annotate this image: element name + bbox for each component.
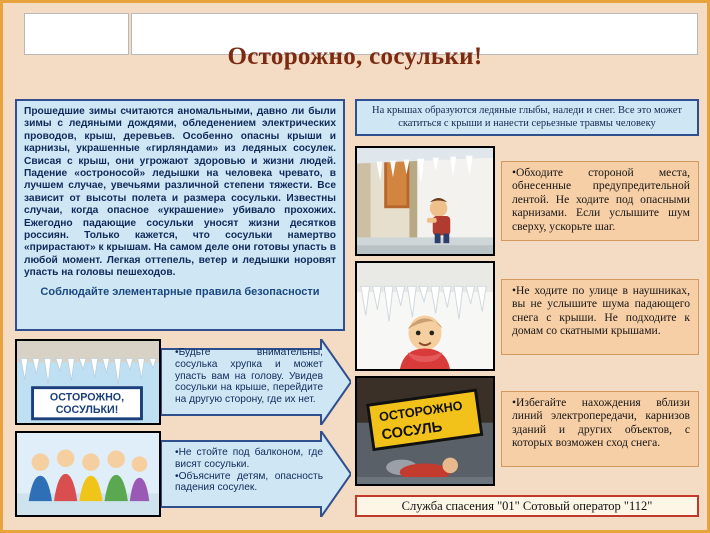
page-title: Осторожно, сосульки! [11,43,699,71]
header-band: Осторожно, сосульки! [11,9,699,87]
svg-text:ОСТОРОЖНО,: ОСТОРОЖНО, [50,391,124,403]
photo-street-sign: ОСТОРОЖНО, СОСУЛЬКИ! [15,339,161,425]
photo-man-under-cornice [355,146,495,256]
main-text-block: Прошедшие зимы считаются аномальными, да… [15,99,345,331]
safety-rules-line: Соблюдайте элементарные правила безопасн… [24,286,336,298]
tip-box-1: •Обходите стороной места, обнесенные пре… [501,161,699,241]
illustration-woman-icicles [357,263,493,370]
illustration-warning-sign: ОСТОРОЖНО СОСУЛЬ [357,378,493,485]
illustration-street-sign: ОСТОРОЖНО, СОСУЛЬКИ! [17,341,159,425]
arrow-callout-1: •Будьте внимательны, сосулька хрупка и м… [161,339,351,425]
illustration-children [17,433,159,517]
roof-ice-note-text: На крышах образуются ледяные глыбы, нале… [363,105,691,130]
roof-ice-note: На крышах образуются ледяные глыбы, нале… [355,99,699,136]
photo-warning-sign-danger: ОСТОРОЖНО СОСУЛЬ [355,376,495,486]
svg-text:СОСУЛЬКИ!: СОСУЛЬКИ! [56,404,119,416]
photo-children-group [15,431,161,517]
arrow-text-2: •Не стойте под балконом, где висят сосул… [175,447,323,494]
tip-box-3: •Избегайте нахождения вблизи линий элект… [501,391,699,467]
tip-box-2: •Не ходите по улице в наушниках, вы не у… [501,279,699,355]
arrow-text-1: •Будьте внимательны, сосулька хрупка и м… [175,347,323,406]
poster-page: Осторожно, сосульки! Прошедшие зимы счит… [0,0,710,533]
tip-text-2: •Не ходите по улице в наушниках, вы не у… [512,284,690,337]
photo-woman-under-icicles [355,261,495,371]
tip-text-1: •Обходите стороной места, обнесенные пре… [512,166,690,233]
emergency-service-text: Служба спасения "01" Сотовый оператор "1… [402,499,653,514]
tip-text-3: •Избегайте нахождения вблизи линий элект… [512,396,690,449]
emergency-service-bar: Служба спасения "01" Сотовый оператор "1… [355,495,699,517]
main-text-body: Прошедшие зимы считаются аномальными, да… [24,106,336,278]
arrow-callout-2: •Не стойте под балконом, где висят сосул… [161,431,351,517]
illustration-man-running [357,148,493,255]
